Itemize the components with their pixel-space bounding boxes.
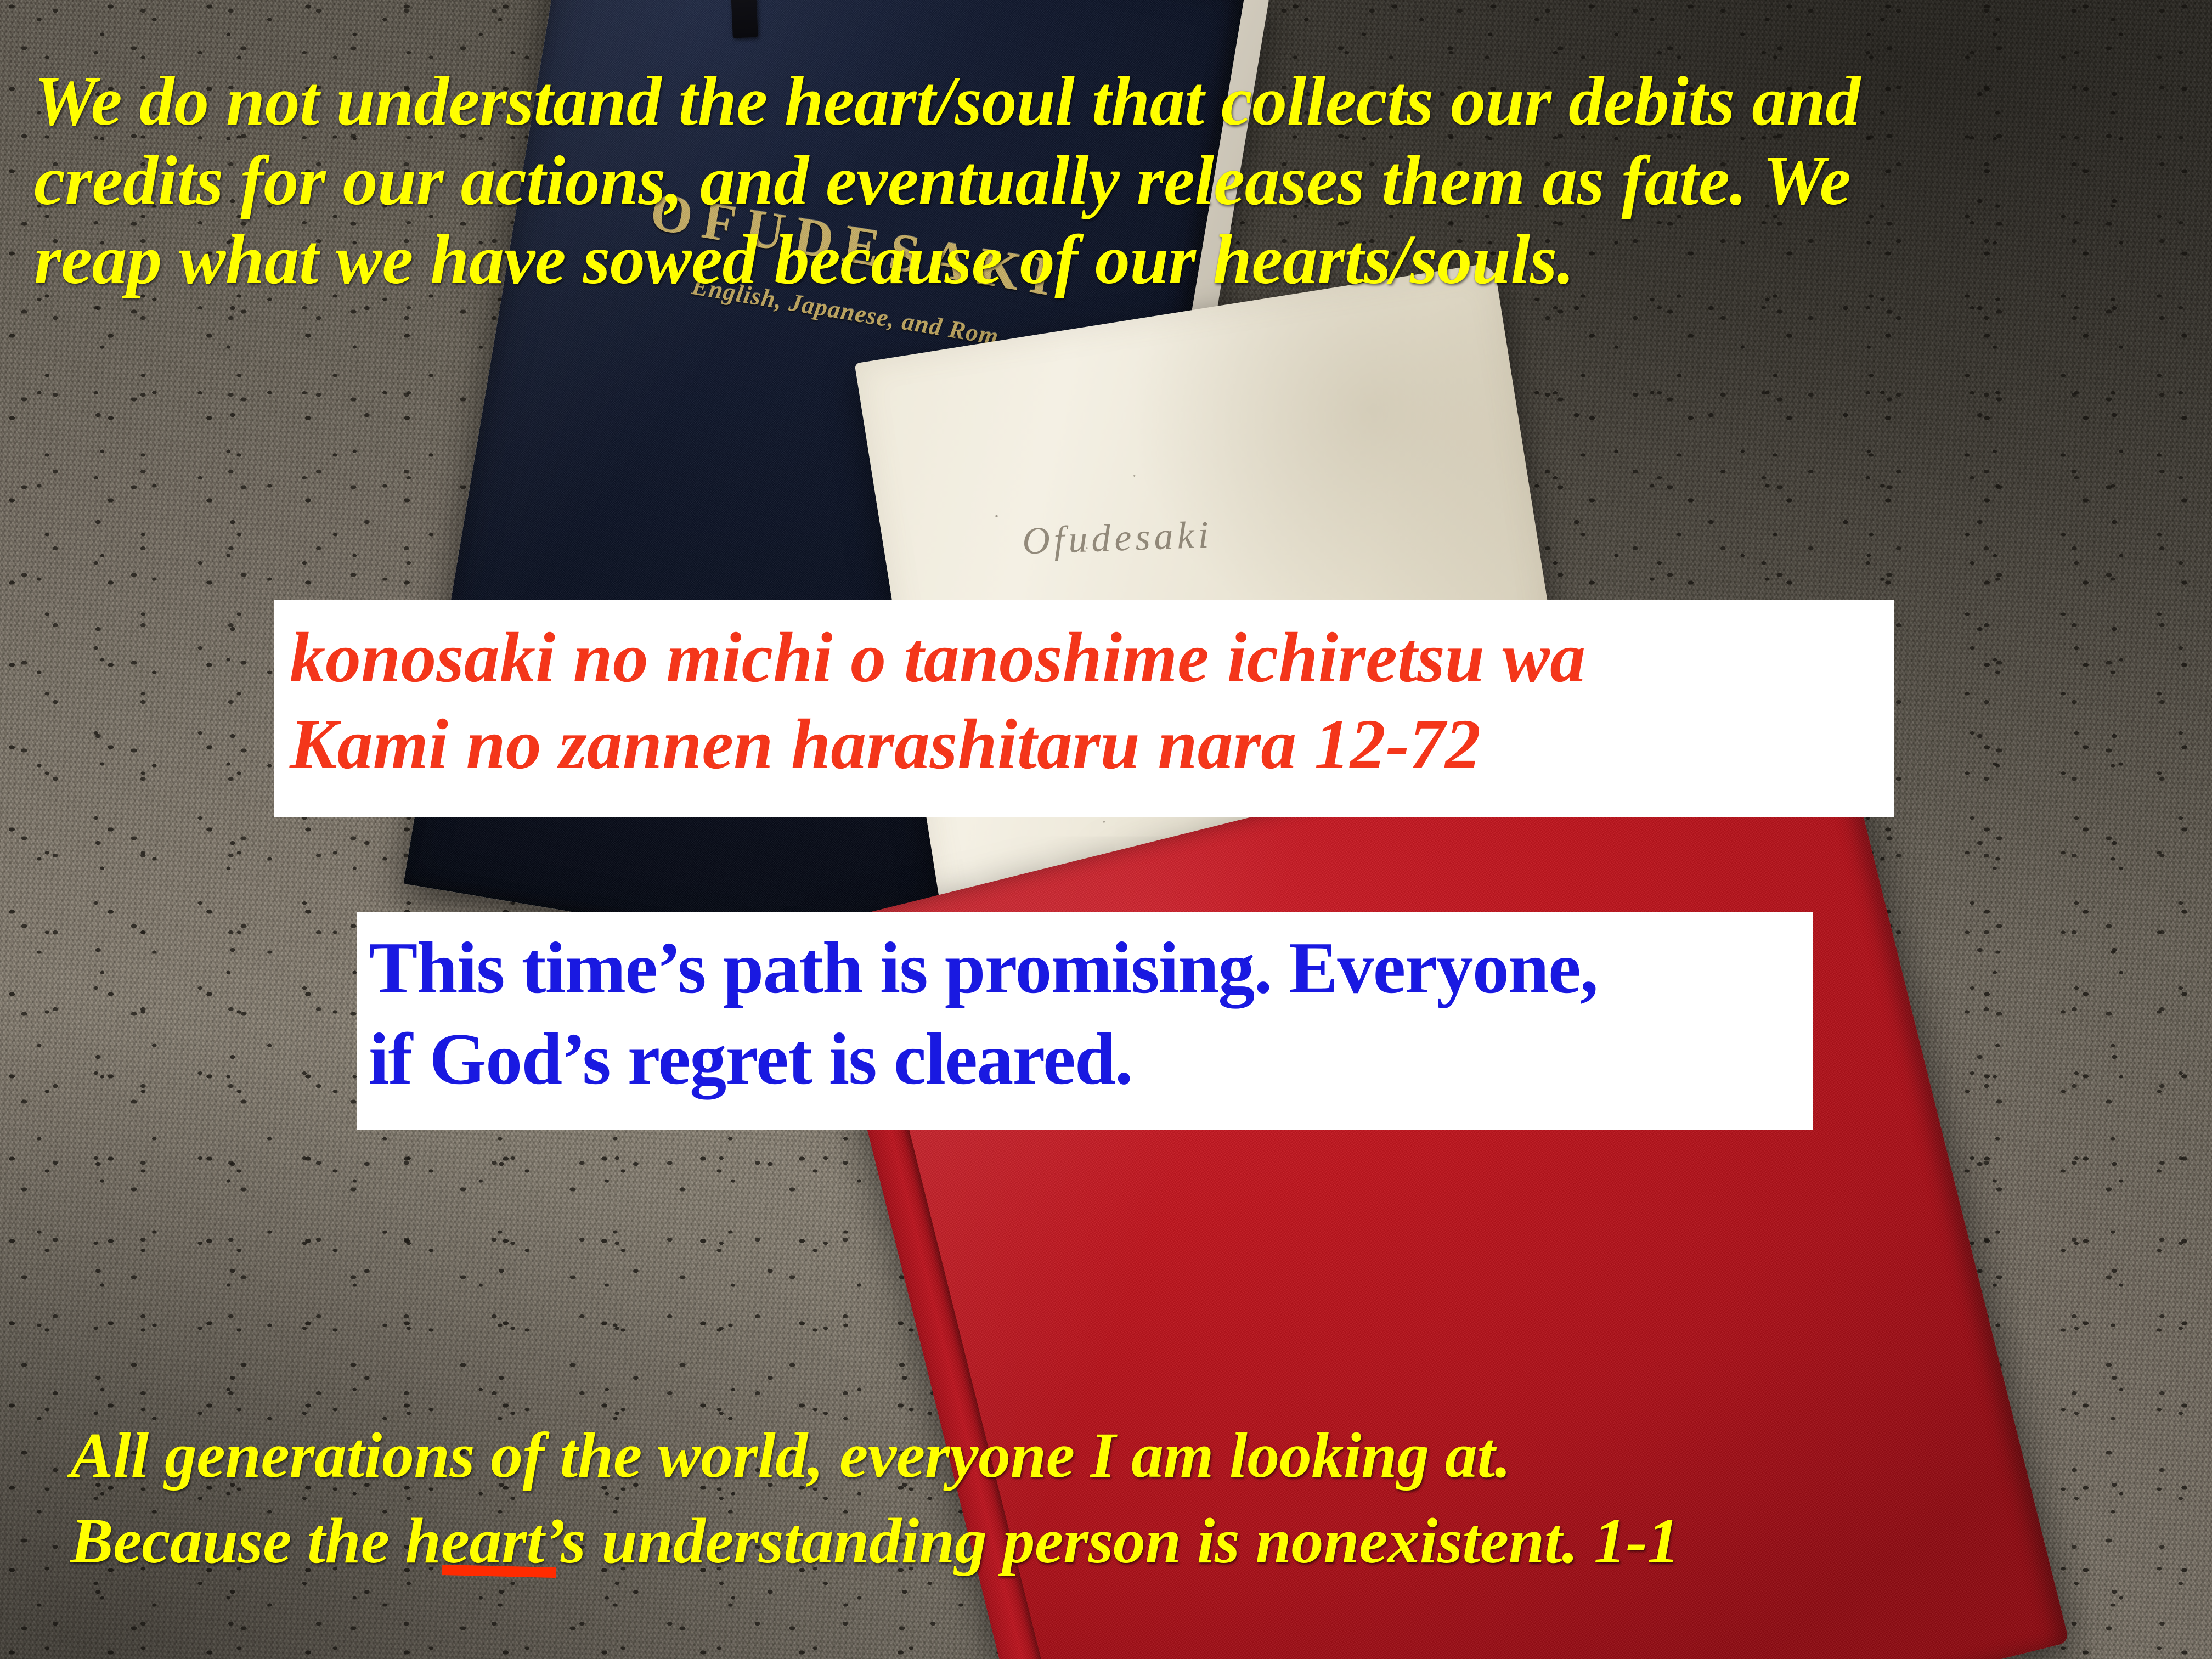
book-cream-title: Ofudesaki [1022, 513, 1213, 563]
english-line-1: This time’s path is promising. Everyone, [369, 926, 1598, 1010]
english-line-2: if God’s regret is cleared. [369, 1017, 1132, 1101]
commentary-bottom-text: All generations of the world, everyone I… [70, 1413, 2210, 1584]
romaji-line-1: konosaki no michi o tanoshime ichiretsu … [290, 617, 1585, 699]
romaji-line-2: Kami no zannen harashitaru nara 12-72 [290, 703, 1481, 786]
english-translation-card: This time’s path is promising. Everyone,… [357, 912, 1813, 1130]
romaji-verse-card: konosaki no michi o tanoshime ichiretsu … [274, 600, 1894, 817]
slide-canvas: OFUDESAKI English, Japanese, and Rom Ofu… [0, 0, 2212, 1659]
commentary-top-text: We do not understand the heart/soul that… [34, 61, 2207, 300]
